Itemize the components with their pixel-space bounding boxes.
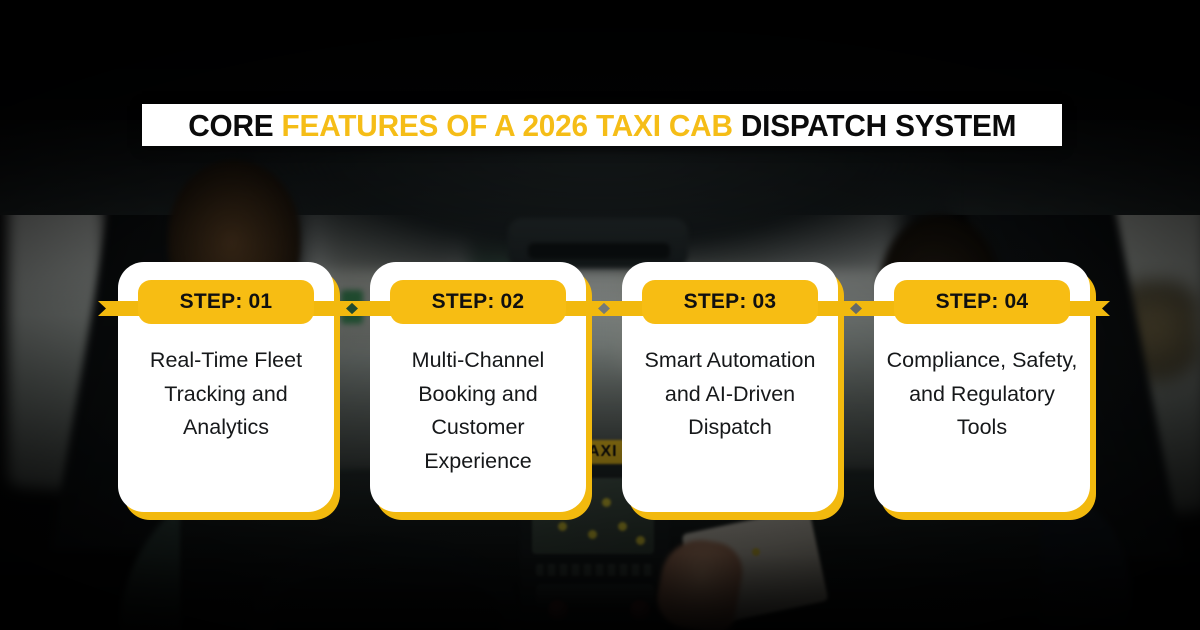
step-badge-3: STEP: 03 <box>642 280 818 324</box>
step-card-title-4: Compliance, Safety, and Regulatory Tools <box>884 344 1080 445</box>
infographic-canvas: TAXI CORE FEATURES OF A 2026 TAXI CAB DI… <box>0 0 1200 630</box>
step-card-title-2: Multi-Channel Booking and Customer Exper… <box>380 344 576 478</box>
step-card-4[interactable]: STEP: 04 Compliance, Safety, and Regulat… <box>874 262 1090 520</box>
step-badge-4: STEP: 04 <box>894 280 1070 324</box>
step-badge-label: STEP: 02 <box>432 290 525 314</box>
step-badge-label: STEP: 01 <box>180 290 273 314</box>
step-badge-label: STEP: 03 <box>684 290 777 314</box>
step-badge-label: STEP: 04 <box>936 290 1029 314</box>
step-badge-2: STEP: 02 <box>390 280 566 324</box>
title-banner: CORE FEATURES OF A 2026 TAXI CAB DISPATC… <box>142 104 1062 146</box>
title-part-one: CORE <box>188 108 281 143</box>
title-part-two: DISPATCH SYSTEM <box>732 108 1016 143</box>
page-title: CORE FEATURES OF A 2026 TAXI CAB DISPATC… <box>188 110 1016 141</box>
step-card-title-3: Smart Automation and AI-Driven Dispatch <box>632 344 828 445</box>
step-cards-row: STEP: 01 Real-Time Fleet Tracking and An… <box>0 262 1200 522</box>
step-card-2[interactable]: STEP: 02 Multi-Channel Booking and Custo… <box>370 262 586 520</box>
title-part-highlight: FEATURES OF A 2026 TAXI CAB <box>281 108 732 143</box>
step-card-1[interactable]: STEP: 01 Real-Time Fleet Tracking and An… <box>118 262 334 520</box>
step-badge-1: STEP: 01 <box>138 280 314 324</box>
step-card-title-1: Real-Time Fleet Tracking and Analytics <box>128 344 324 445</box>
step-card-3[interactable]: STEP: 03 Smart Automation and AI-Driven … <box>622 262 838 520</box>
